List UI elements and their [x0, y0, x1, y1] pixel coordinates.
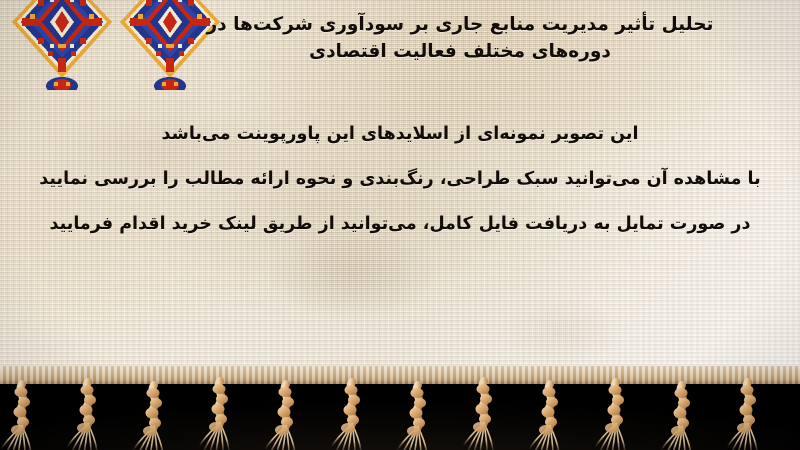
- slide-body-line: این تصویر نمونه‌ای از اسلایدهای این پاور…: [18, 112, 782, 157]
- presentation-slide: تحلیل تأثیر مدیریت منابع جاری بر سودآوری…: [0, 0, 800, 450]
- carpet-fringe-band: [0, 366, 800, 450]
- slide-title-line: دوره‌های مختلف فعالیت اقتصادی: [150, 39, 770, 66]
- slide-body-text: این تصویر نمونه‌ای از اسلایدهای این پاور…: [18, 112, 782, 247]
- slide-body-line: در صورت تمایل به دریافت فایل کامل، می‌تو…: [18, 202, 782, 247]
- carpet-fringe-tassels: [0, 376, 800, 450]
- slide-title: تحلیل تأثیر مدیریت منابع جاری بر سودآوری…: [150, 12, 770, 66]
- persian-medallion-ornament: [8, 0, 116, 94]
- slide-title-line: تحلیل تأثیر مدیریت منابع جاری بر سودآوری…: [150, 12, 770, 39]
- slide-body-line: با مشاهده آن می‌توانید سبک طراحی، رنگ‌بن…: [18, 157, 782, 202]
